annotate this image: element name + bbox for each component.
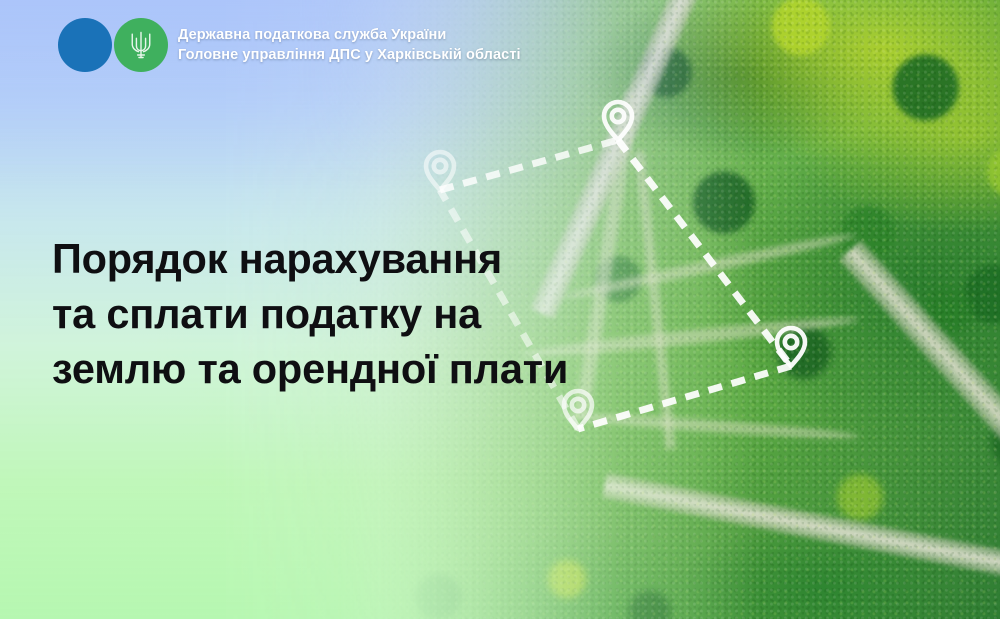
ukraine-trident-icon xyxy=(128,30,154,60)
page-title-line3: землю та орендної плати xyxy=(52,341,652,396)
logo-green-circle xyxy=(114,18,168,72)
organisation-name-block: Державна податкова служба України Головн… xyxy=(178,27,521,62)
organisation-name-line1: Державна податкова служба України xyxy=(178,27,521,43)
page-title-line2: та сплати податку на xyxy=(52,286,652,341)
map-pin-top-right xyxy=(604,102,632,140)
dps-logo xyxy=(58,18,168,72)
organisation-name-line2: Головне управління ДПС у Харківській обл… xyxy=(178,47,521,63)
page-title-line1: Порядок нарахування xyxy=(52,231,652,286)
banner-canvas: Державна податкова служба України Головн… xyxy=(0,0,1000,619)
organisation-header: Державна податкова служба України Головн… xyxy=(58,18,521,72)
map-pin-bottom-right xyxy=(777,328,805,366)
logo-blue-circle-icon xyxy=(58,18,112,72)
parcel-edge-top xyxy=(440,140,618,190)
page-title: Порядок нарахування та сплати податку на… xyxy=(52,231,652,397)
